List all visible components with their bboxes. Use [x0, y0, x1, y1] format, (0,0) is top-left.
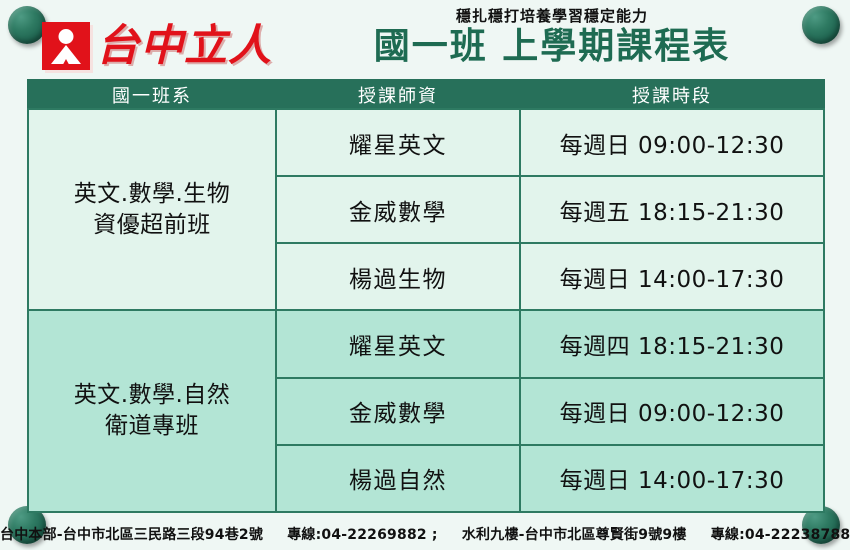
time-cell: 每週四 18:15-21:30 [520, 310, 824, 377]
column-header-class: 國一班系 [28, 80, 276, 109]
class-name-line-1: 英文.數學.生物 [74, 181, 231, 207]
page-title: 國一班 上學期課程表 [312, 26, 792, 67]
class-name-line-2: 衛道專班 [105, 413, 199, 439]
class-name-cell-group-1: 英文.數學.生物 資優超前班 [28, 109, 276, 310]
teacher-cell: 耀星英文 [276, 310, 520, 377]
corner-stud-top-right [802, 6, 840, 44]
column-header-teacher: 授課師資 [276, 80, 520, 109]
table-body: 英文.數學.生物 資優超前班 耀星英文 每週日 09:00-12:30 金威數學… [28, 109, 824, 512]
teacher-cell: 楊過自然 [276, 445, 520, 512]
branch-1-address: 台中本部-台中市北區三民路三段94巷2號 [0, 527, 263, 543]
course-schedule-poster: 台中立人 穩扎穩打培養學習穩定能力 國一班 上學期課程表 國一班系 授課師資 授… [0, 0, 850, 550]
teacher-cell: 金威數學 [276, 176, 520, 243]
branch-1-phone: 專線:04-22269882 ; [287, 527, 438, 543]
time-cell: 每週日 09:00-12:30 [520, 378, 824, 445]
brand-logo: 台中立人 [42, 22, 272, 70]
table-header-row: 國一班系 授課師資 授課時段 [28, 80, 824, 109]
branch-2-phone: 專線:04-22238788 [711, 527, 850, 543]
teacher-cell: 耀星英文 [276, 109, 520, 176]
class-name-cell-group-2: 英文.數學.自然 衛道專班 [28, 310, 276, 512]
brand-name-text: 台中立人 [96, 25, 272, 68]
column-header-time: 授課時段 [520, 80, 824, 109]
schedule-table: 國一班系 授課師資 授課時段 英文.數學.生物 資優超前班 耀星英文 每週日 0… [27, 79, 825, 513]
time-cell: 每週日 14:00-17:30 [520, 445, 824, 512]
class-name-line-2: 資優超前班 [93, 212, 211, 238]
table-row: 英文.數學.自然 衛道專班 耀星英文 每週四 18:15-21:30 [28, 310, 824, 377]
time-cell: 每週五 18:15-21:30 [520, 176, 824, 243]
person-leg-gap-shape [60, 59, 72, 70]
teacher-cell: 金威數學 [276, 378, 520, 445]
footer-contact-info: 台中本部-台中市北區三民路三段94巷2號 專線:04-22269882 ; 水利… [0, 524, 850, 544]
class-name-line-1: 英文.數學.自然 [74, 382, 231, 408]
teacher-cell: 楊過生物 [276, 243, 520, 310]
table-header: 國一班系 授課師資 授課時段 [28, 80, 824, 109]
time-cell: 每週日 09:00-12:30 [520, 109, 824, 176]
time-cell: 每週日 14:00-17:30 [520, 243, 824, 310]
title-block: 穩扎穩打培養學習穩定能力 國一班 上學期課程表 [312, 8, 792, 67]
corner-stud-top-left [8, 6, 46, 44]
person-head-shape [59, 29, 74, 44]
tagline-text: 穩扎穩打培養學習穩定能力 [312, 8, 792, 25]
branch-2-address: 水利九樓-台中市北區尊賢街9號9樓 [462, 527, 687, 543]
person-mark-icon [42, 22, 90, 70]
table-row: 英文.數學.生物 資優超前班 耀星英文 每週日 09:00-12:30 [28, 109, 824, 176]
